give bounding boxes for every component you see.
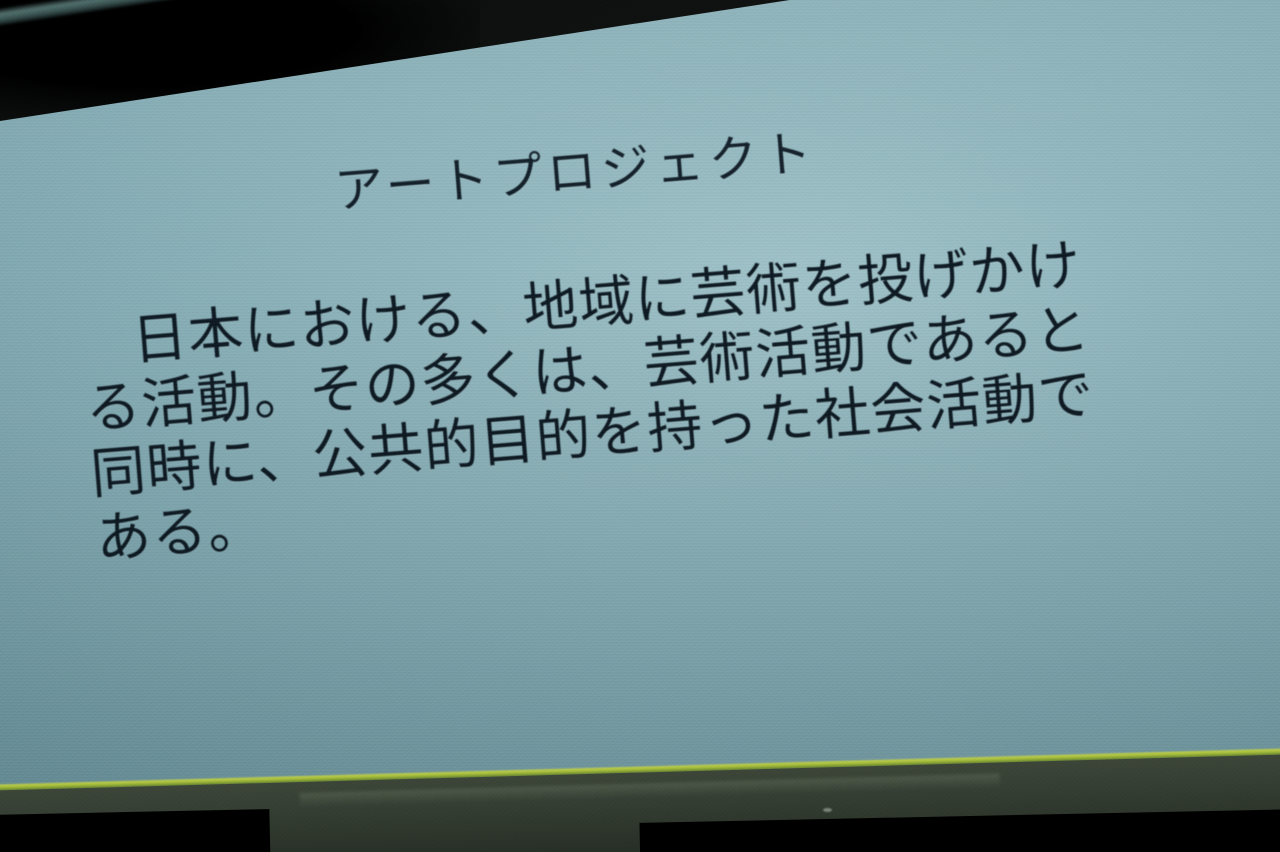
wall-speck — [823, 808, 832, 812]
slide-body-text: 日本における、地域に芸術を投げかけ る活動。その多くは、芸術活動であると 同時に… — [78, 223, 1215, 572]
slide-content: アートプロジェクト 日本における、地域に芸術を投げかけ る活動。その多くは、芸術… — [0, 0, 1280, 852]
projection-screen: アートプロジェクト 日本における、地域に芸術を投げかけ る活動。その多くは、芸術… — [0, 0, 1280, 852]
slide-title: アートプロジェクト — [333, 127, 819, 217]
projected-slide-photo: アートプロジェクト 日本における、地域に芸術を投げかけ る活動。その多くは、芸術… — [0, 0, 1280, 852]
wall-shadow-left — [0, 809, 271, 852]
